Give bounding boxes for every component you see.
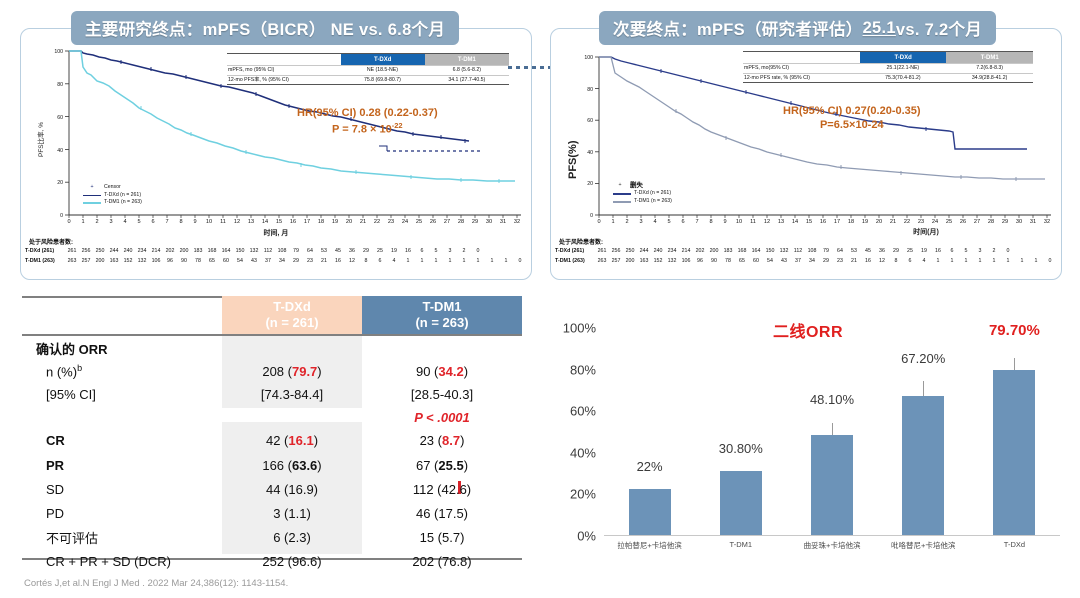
bar-column: 79.70% xyxy=(969,328,1060,535)
right-km-x-tick-labels: 0123 4567 891011 12131415 16171819 20212… xyxy=(592,219,1054,225)
table-row: SD 44 (16.9) 112 (42.6) xyxy=(22,477,522,501)
x-label-lapatinib-capecitabine: 拉帕替尼+卡培他滨 xyxy=(604,540,695,551)
error-bar xyxy=(832,423,833,435)
right-hr-statistics: HR(95% CI) 0.27(0.20-0.35) P=6.5×10-24 xyxy=(783,105,921,133)
right-endpoint-panel: 次要终点：mPFS（研究者评估）25.1 vs. 7.2个月 100 80 60… xyxy=(550,28,1062,280)
cell-tdxd-ci: [74.3-84.4] xyxy=(222,387,362,402)
right-risk-row-tdm1: T-DM1 (263) 263257200 163152132 1069690 … xyxy=(555,258,1057,264)
bar-chart-y-axis: 100% 80% 60% 40% 20% 0% xyxy=(548,328,600,536)
error-bar xyxy=(923,381,924,395)
y-tick-100: 100% xyxy=(563,321,596,336)
legend-item-censor: + 删失 xyxy=(613,181,672,190)
header-tdm1: T-DM1 xyxy=(425,54,509,65)
row-label-confirmed-orr: 确认的 ORR xyxy=(22,339,222,358)
right-km-x-axis-label: 时间(月) xyxy=(871,227,981,237)
left-km-y-axis-label: PFS比率, % xyxy=(35,122,45,157)
svg-text:80: 80 xyxy=(587,87,593,93)
x-label-trastuzumab-capecitabine: 曲妥珠+卡培他滨 xyxy=(786,540,877,551)
table-row-pvalue: P < .0001 xyxy=(22,406,522,428)
cell-tdxd-sd: 44 (16.9) xyxy=(222,482,362,497)
bar-value-label: 48.10% xyxy=(810,392,854,407)
cell-tdxd-not-evaluable: 6 (2.3) xyxy=(222,530,362,545)
row-label-not-evaluable: 不可评估 xyxy=(22,528,222,547)
svg-text:100: 100 xyxy=(54,49,63,55)
cell-tdm1-sd: 112 (42.6) xyxy=(362,482,522,497)
table-row: [95% CI] [74.3-84.4] [28.5-40.3] xyxy=(22,383,522,406)
left-km-legend: + Censor T-DXd (n = 261) T-DM1 (n = 263) xyxy=(83,184,142,207)
cell-tdm1-dcr: 202 (76.8) xyxy=(362,554,522,569)
y-tick-40: 40% xyxy=(570,445,596,460)
cell-tdxd-pd: 3 (1.1) xyxy=(222,506,362,521)
left-summary-table: T-DXd T-DM1 mPFS, mo (95% CI) NE (18.5-N… xyxy=(227,53,509,85)
second-line-orr-bar-chart: 二线ORR 100% 80% 60% 40% 20% 0% 22% 30.80%… xyxy=(548,300,1068,576)
svg-text:20: 20 xyxy=(57,180,63,186)
right-km-y-axis-label: PFS(%) xyxy=(567,141,579,180)
bar-series: 22% 30.80% 48.10% 67.20% 79.70% xyxy=(604,328,1060,535)
legend-swatch-tdxd xyxy=(83,195,101,197)
table-row: CR 42 (16.1) 23 (8.7) xyxy=(22,428,522,453)
legend-item-tdxd: T-DXd (n = 261) xyxy=(613,190,672,198)
bar-chart-x-axis-labels: 拉帕替尼+卡培他滨 T-DM1 曲妥珠+卡培他滨 吡咯替尼+卡培他滨 T-DXd xyxy=(604,540,1060,551)
svg-text:100: 100 xyxy=(584,55,593,61)
bar-value-label: 22% xyxy=(637,459,663,474)
header-tdxd: T-DXd xyxy=(341,54,425,65)
cell-tdxd-cr: 42 (16.1) xyxy=(222,433,362,448)
panel-connector-dotted-line xyxy=(508,66,554,69)
bar-pyrotinib-capecitabine[interactable] xyxy=(902,396,944,535)
right-km-legend: + 删失 T-DXd (n = 261) T-DM1 (n = 263) xyxy=(613,181,672,205)
cell-tdxd-n-pct: 208 (79.7) xyxy=(222,364,362,379)
table-row: PD 3 (1.1) 46 (17.5) xyxy=(22,501,522,525)
cell-tdxd-dcr: 252 (96.6) xyxy=(222,554,362,569)
orr-results-table: T-DXd (n = 261) T-DM1 (n = 263) 确认的 ORR … xyxy=(22,296,522,564)
cell-tdm1-cr: 23 (8.7) xyxy=(362,433,522,448)
svg-text:60: 60 xyxy=(57,115,63,121)
cell-tdm1-n-pct: 90 (34.2) xyxy=(362,364,522,379)
bar-tdxd[interactable] xyxy=(993,370,1035,535)
cell-tdm1-pr: 67 (25.5) xyxy=(362,458,522,473)
bar-value-label: 30.80% xyxy=(719,441,763,456)
right-summary-row: 12-mo PFS rate, % (95% CI) 75.3(70.4-81.… xyxy=(743,73,1033,83)
row-label-dcr: CR + PR + SD (DCR) xyxy=(22,554,222,569)
left-km-x-axis-label: 时间, 月 xyxy=(201,228,351,238)
legend-item-tdm1: T-DM1 (n = 263) xyxy=(613,198,672,206)
row-label-ci: [95% CI] xyxy=(22,387,222,402)
right-p-value: P=6.5×10-24 xyxy=(783,119,921,133)
row-label-sd: SD xyxy=(22,482,222,497)
left-risk-row-tdxd: T-DXd (261) 261256250 244240234 21420220… xyxy=(25,248,485,254)
right-summary-row: mPFS, mo(95% CI) 25.1(22.1-NE) 7.2(6.8-8… xyxy=(743,63,1033,73)
legend-swatch-tdm1 xyxy=(83,202,101,204)
right-risk-row-tdxd: T-DXd (261) 261256250 244240234 21420220… xyxy=(555,248,1015,254)
y-tick-80: 80% xyxy=(570,362,596,377)
left-hr-statistics: HR(95% CI) 0.28 (0.22-0.37) P = 7.8 × 10… xyxy=(297,107,438,137)
svg-text:60: 60 xyxy=(587,118,593,124)
bar-tdm1[interactable] xyxy=(720,471,762,535)
svg-text:20: 20 xyxy=(587,181,593,187)
right-hr-value: HR(95% CI) 0.27(0.20-0.35) xyxy=(783,105,921,119)
y-tick-60: 60% xyxy=(570,404,596,419)
header-tdxd: T-DXd xyxy=(860,52,947,63)
left-hr-value: HR(95% CI) 0.28 (0.22-0.37) xyxy=(297,107,438,121)
bar-value-label-highlight: 79.70% xyxy=(989,322,1040,339)
cell-tdm1-ci: [28.5-40.3] xyxy=(362,387,522,402)
table-row: CR + PR + SD (DCR) 252 (96.6) 202 (76.8) xyxy=(22,549,522,573)
right-summary-table-header: T-DXd T-DM1 xyxy=(743,52,1033,63)
table-row: 不可评估 6 (2.3) 15 (5.7) xyxy=(22,525,522,549)
bar-column: 48.10% xyxy=(786,328,877,535)
y-tick-20: 20% xyxy=(570,487,596,502)
row-label-cr: CR xyxy=(22,433,222,448)
legend-item-tdm1: T-DM1 (n = 263) xyxy=(83,199,142,207)
bar-value-label: 67.20% xyxy=(901,351,945,366)
bar-column: 22% xyxy=(604,328,695,535)
right-risk-table-title: 处于风险患者数: xyxy=(559,237,603,246)
svg-text:80: 80 xyxy=(57,82,63,88)
row-label-pd: PD xyxy=(22,506,222,521)
legend-swatch-tdm1 xyxy=(613,201,631,203)
legend-swatch-tdxd xyxy=(613,193,631,195)
orr-p-value: P < .0001 xyxy=(362,410,522,425)
cell-tdm1-not-evaluable: 15 (5.7) xyxy=(362,530,522,545)
citation-reference: Cortés J,et al.N Engl J Med . 2022 Mar 2… xyxy=(24,578,288,589)
svg-text:40: 40 xyxy=(587,150,593,156)
bar-column: 30.80% xyxy=(695,328,786,535)
x-label-pyrotinib-capecitabine: 吡咯替尼+卡培他滨 xyxy=(878,540,969,551)
bar-lapatinib-capecitabine[interactable] xyxy=(629,489,671,535)
left-km-x-tick-labels: 0123 4567 891011 12131415 16171819 20212… xyxy=(62,219,524,225)
x-label-tdxd: T-DXd xyxy=(969,540,1060,551)
cell-tdxd-pr: 166 (63.6) xyxy=(222,458,362,473)
header-blank xyxy=(743,52,860,63)
left-risk-table-title: 处于风险患者数: xyxy=(29,237,73,246)
right-summary-table: T-DXd T-DM1 mPFS, mo(95% CI) 25.1(22.1-N… xyxy=(743,51,1033,83)
header-blank xyxy=(227,54,341,65)
header-tdm1: T-DM1 xyxy=(946,52,1033,63)
row-label-n-pct: n (%)b xyxy=(22,363,222,379)
left-endpoint-panel: 主要研究终点：mPFS（BICR） NE vs. 6.8个月 100 80 60… xyxy=(20,28,532,280)
legend-item-tdxd: T-DXd (n = 261) xyxy=(83,192,142,200)
bar-chart-plot-area: 22% 30.80% 48.10% 67.20% 79.70% xyxy=(604,328,1060,536)
left-summary-row: 12-mo PFS率, % (95% CI) 75.8 (69.8-80.7) … xyxy=(227,75,509,85)
y-tick-0: 0% xyxy=(577,529,596,544)
table-row: 确认的 ORR xyxy=(22,336,522,360)
bar-chart-x-axis-line xyxy=(604,535,1060,536)
error-bar xyxy=(1014,358,1015,370)
column-header-tdxd: T-DXd (n = 261) xyxy=(222,296,362,334)
left-risk-row-tdm1: T-DM1 (263) 263257200 163152132 1069690 … xyxy=(25,258,527,264)
bar-column: 67.20% xyxy=(878,328,969,535)
column-header-tdm1: T-DM1 (n = 263) xyxy=(362,296,522,334)
left-summary-table-header: T-DXd T-DM1 xyxy=(227,54,509,65)
x-label-tdm1: T-DM1 xyxy=(695,540,786,551)
row-label-pr: PR xyxy=(22,458,222,473)
left-summary-row: mPFS, mo (95% CI) NE (18.5-NE) 6.8 (5.6-… xyxy=(227,65,509,75)
svg-text:40: 40 xyxy=(57,148,63,154)
bar-trastuzumab-capecitabine[interactable] xyxy=(811,435,853,535)
left-p-value: P = 7.8 × 10-22 xyxy=(297,121,438,137)
cell-tdm1-pd: 46 (17.5) xyxy=(362,506,522,521)
legend-item-censor: + Censor xyxy=(83,184,142,192)
table-row: n (%)b 208 (79.7) 90 (34.2) xyxy=(22,360,522,383)
table-row: PR 166 (63.6) 67 (25.5) xyxy=(22,453,522,477)
orr-table-body: 确认的 ORR n (%)b 208 (79.7) 90 (34.2) [95%… xyxy=(22,336,522,573)
